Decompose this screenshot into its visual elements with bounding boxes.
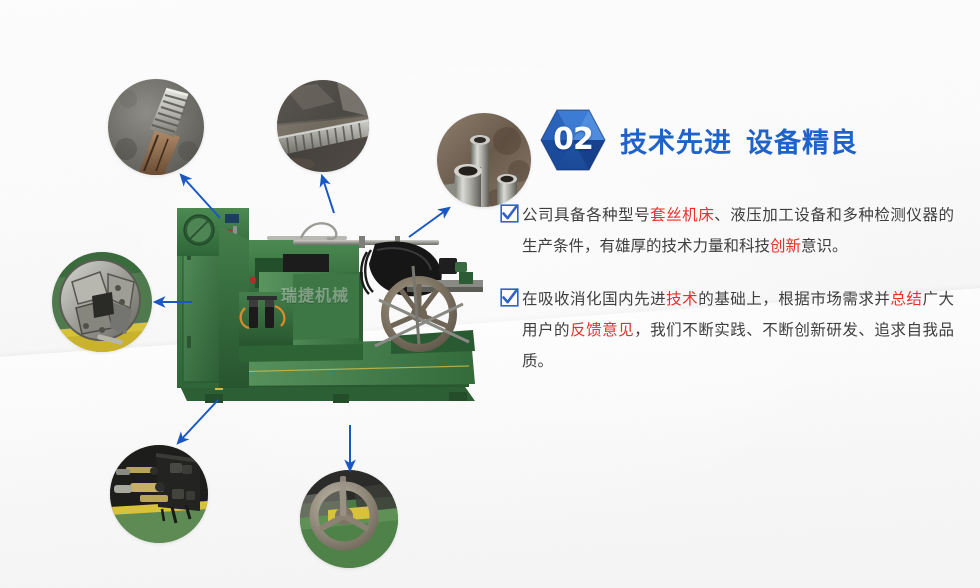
highlighted-text: 套丝机床 bbox=[650, 206, 714, 224]
highlighted-text: 技术 bbox=[666, 290, 698, 308]
body-text: 意识。 bbox=[801, 237, 848, 255]
highlighted-text: 创新 bbox=[770, 237, 801, 255]
detail-bubble-threaded-rod bbox=[108, 79, 204, 175]
highlighted-text: 反馈意见 bbox=[570, 321, 634, 339]
checkbox-checked-icon bbox=[500, 204, 519, 223]
body-text: 的基础上，根据市场需求并 bbox=[698, 290, 890, 308]
detail-bubble-threaded-bar bbox=[277, 80, 369, 172]
bullet-item: 公司具备各种型号套丝机床、液压加工设备和多种检测仪器的生产条件，有雄厚的技术力量… bbox=[500, 200, 968, 262]
bullet-item: 在吸收消化国内先进技术的基础上，根据市场需求并总结广大用户的反馈意见，我们不断实… bbox=[500, 284, 968, 377]
machine-photo: 瑞捷机械 bbox=[163, 196, 491, 422]
section-title-part1: 技术先进 bbox=[620, 128, 732, 159]
content-panel: 02 技术先进设备精良 公司具备各种型号套丝机床、液压加工设备和多种检测仪器的生… bbox=[498, 104, 968, 399]
section-title-part2: 设备精良 bbox=[746, 128, 858, 159]
detail-bubble-handwheel bbox=[300, 470, 398, 568]
section-header: 02 技术先进设备精良 bbox=[498, 104, 968, 176]
section-number-badge: 02 bbox=[540, 107, 606, 173]
body-text: 在吸收消化国内先进 bbox=[522, 290, 666, 308]
detail-bubble-cutting-head bbox=[52, 252, 152, 352]
body-text: 公司具备各种型号 bbox=[522, 206, 650, 224]
checkbox-checked-icon bbox=[500, 288, 519, 307]
bullet-text: 在吸收消化国内先进技术的基础上，根据市场需求并总结广大用户的反馈意见，我们不断实… bbox=[522, 284, 954, 377]
promo-banner: 瑞捷机械 bbox=[0, 0, 980, 588]
highlighted-text: 总结 bbox=[890, 290, 922, 308]
section-number-text: 02 bbox=[540, 107, 606, 173]
bullet-list: 公司具备各种型号套丝机床、液压加工设备和多种检测仪器的生产条件，有雄厚的技术力量… bbox=[498, 200, 968, 377]
section-title: 技术先进设备精良 bbox=[620, 121, 858, 160]
detail-bubble-hydraulic-valve bbox=[110, 445, 208, 543]
bullet-text: 公司具备各种型号套丝机床、液压加工设备和多种检测仪器的生产条件，有雄厚的技术力量… bbox=[522, 200, 954, 262]
